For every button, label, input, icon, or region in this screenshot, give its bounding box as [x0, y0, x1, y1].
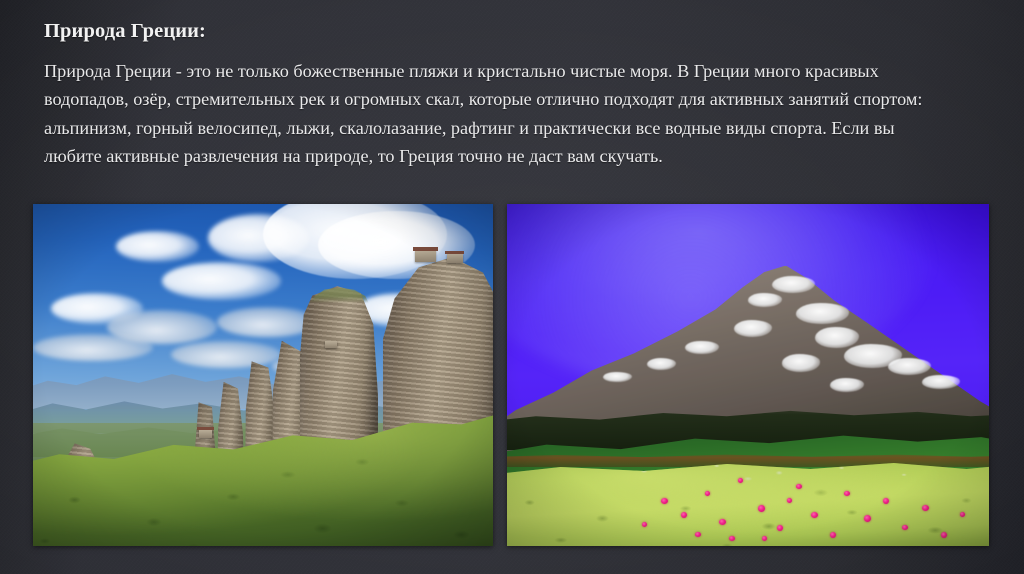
monastery-roof [445, 251, 464, 254]
pink-flower [758, 505, 765, 512]
pink-flower [960, 512, 965, 517]
snow-patch [782, 354, 821, 371]
meteora-rock-formations-photo [33, 204, 493, 546]
slide-title: Природа Греции: [44, 20, 206, 43]
pink-flower [729, 536, 735, 541]
pink-flower [787, 498, 792, 503]
pink-flower [719, 519, 726, 525]
snow-patch [603, 372, 632, 382]
snow-patch [796, 303, 849, 324]
pink-flower [922, 505, 929, 511]
cloud-shape [162, 262, 282, 300]
monastery-building [415, 250, 436, 262]
flower-meadow-layer [507, 457, 989, 546]
pink-flower [811, 512, 818, 518]
pink-flower [705, 491, 710, 496]
pink-flower [864, 515, 871, 522]
snow-patch [647, 358, 676, 370]
slide-body-text: Природа Греции - это не только божествен… [44, 57, 944, 171]
cloud-shape [208, 214, 309, 262]
snow-patch [748, 293, 782, 307]
monastery-building [199, 430, 213, 438]
presentation-slide: Природа Греции: Природа Греции - это не … [0, 0, 1024, 574]
monastery-roof [413, 247, 438, 251]
cloud-shape [171, 341, 281, 368]
snow-patch [922, 375, 961, 389]
alpine-meadow-mountain-photo [507, 204, 989, 546]
monastery-roof [197, 427, 214, 430]
slide-content: Природа Греции: Природа Греции - это не … [0, 0, 1024, 574]
scattered-stones [507, 457, 989, 546]
cloud-shape [33, 334, 153, 361]
monastery-building [325, 341, 337, 348]
snow-patch [815, 327, 858, 348]
monastery-building [447, 254, 463, 264]
pink-flower [642, 522, 647, 527]
pink-flower [681, 512, 687, 518]
cloud-shape [116, 231, 199, 262]
